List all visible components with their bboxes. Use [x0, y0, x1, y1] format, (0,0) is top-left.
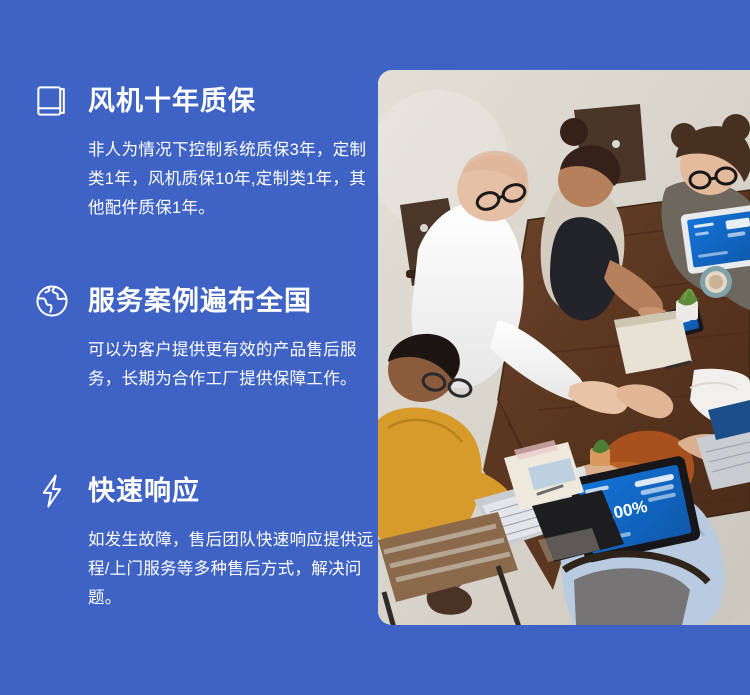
feature-item-warranty: 风机十年质保 非人为情况下控制系统质保3年，定制类1年，风机质保10年,定制类1… [30, 78, 378, 223]
book-icon [30, 79, 74, 123]
team-meeting-photo: 85.00% [378, 70, 750, 625]
feature-list: 风机十年质保 非人为情况下控制系统质保3年，定制类1年，风机质保10年,定制类1… [0, 0, 378, 695]
globe-icon [30, 279, 74, 323]
feature-description: 可以为客户提供更有效的产品售后服务，长期为合作工厂提供保障工作。 [88, 336, 378, 394]
feature-header: 风机十年质保 [30, 78, 378, 124]
feature-header: 快速响应 [30, 468, 378, 514]
feature-title: 快速响应 [88, 474, 200, 508]
feature-item-fast-response: 快速响应 如发生故障，售后团队快速响应提供远程/上门服务等多种售后方式，解决问题… [30, 468, 378, 613]
feature-description: 如发生故障，售后团队快速响应提供远程/上门服务等多种售后方式，解决问题。 [88, 526, 378, 613]
feature-title: 风机十年质保 [88, 84, 256, 118]
feature-description: 非人为情况下控制系统质保3年，定制类1年，风机质保10年,定制类1年，其他配件质… [88, 136, 378, 223]
feature-item-nationwide-service: 服务案例遍布全国 可以为客户提供更有效的产品售后服务，长期为合作工厂提供保障工作… [30, 278, 378, 394]
feature-header: 服务案例遍布全国 [30, 278, 378, 324]
feature-title: 服务案例遍布全国 [88, 284, 312, 318]
lightning-bolt-icon [30, 469, 74, 513]
